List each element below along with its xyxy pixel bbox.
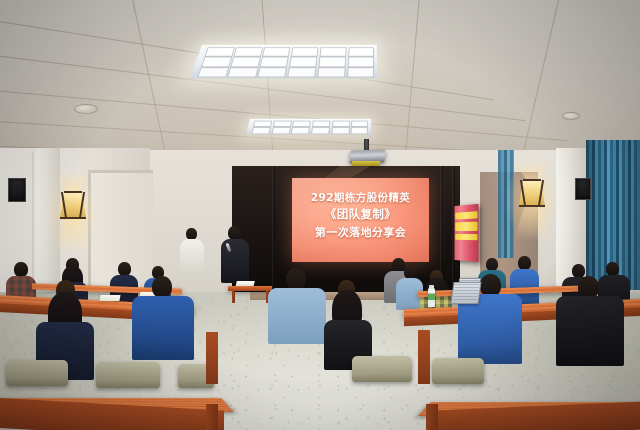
projector-lens: [352, 161, 381, 166]
laptop-open: [450, 282, 481, 304]
water-bottle: [428, 288, 435, 307]
projection-screen: 292期栋方股份精英 《团队复制》 第一次落地分享会: [292, 178, 429, 262]
projection-screen-text: 292期栋方股份精英 《团队复制》 第一次落地分享会: [292, 190, 429, 241]
ceiling: [0, 0, 640, 172]
chair: [96, 362, 160, 388]
chair: [432, 358, 484, 384]
slide-line-2: 《团队复制》: [292, 206, 429, 224]
paper-document: [99, 295, 120, 301]
slide-line-3: 第一次落地分享会: [292, 224, 429, 241]
wall-speaker-right: [575, 178, 591, 200]
desk-side-panel-right: [418, 330, 430, 384]
slide-line-1: 292期栋方股份精英: [292, 190, 429, 206]
desk-side-panel-left: [206, 332, 218, 384]
conference-room-photo: 292期栋方股份精英 《团队复制》 第一次落地分享会: [0, 0, 640, 430]
ceiling-panel-light-front: [190, 45, 377, 79]
vertical-red-banner: [454, 204, 478, 262]
wall-speaker-left: [8, 178, 26, 202]
window-curtain-inner: [498, 150, 514, 258]
chair: [352, 356, 412, 382]
chair: [6, 360, 68, 386]
ceiling-panel-light-middle: [246, 119, 371, 135]
